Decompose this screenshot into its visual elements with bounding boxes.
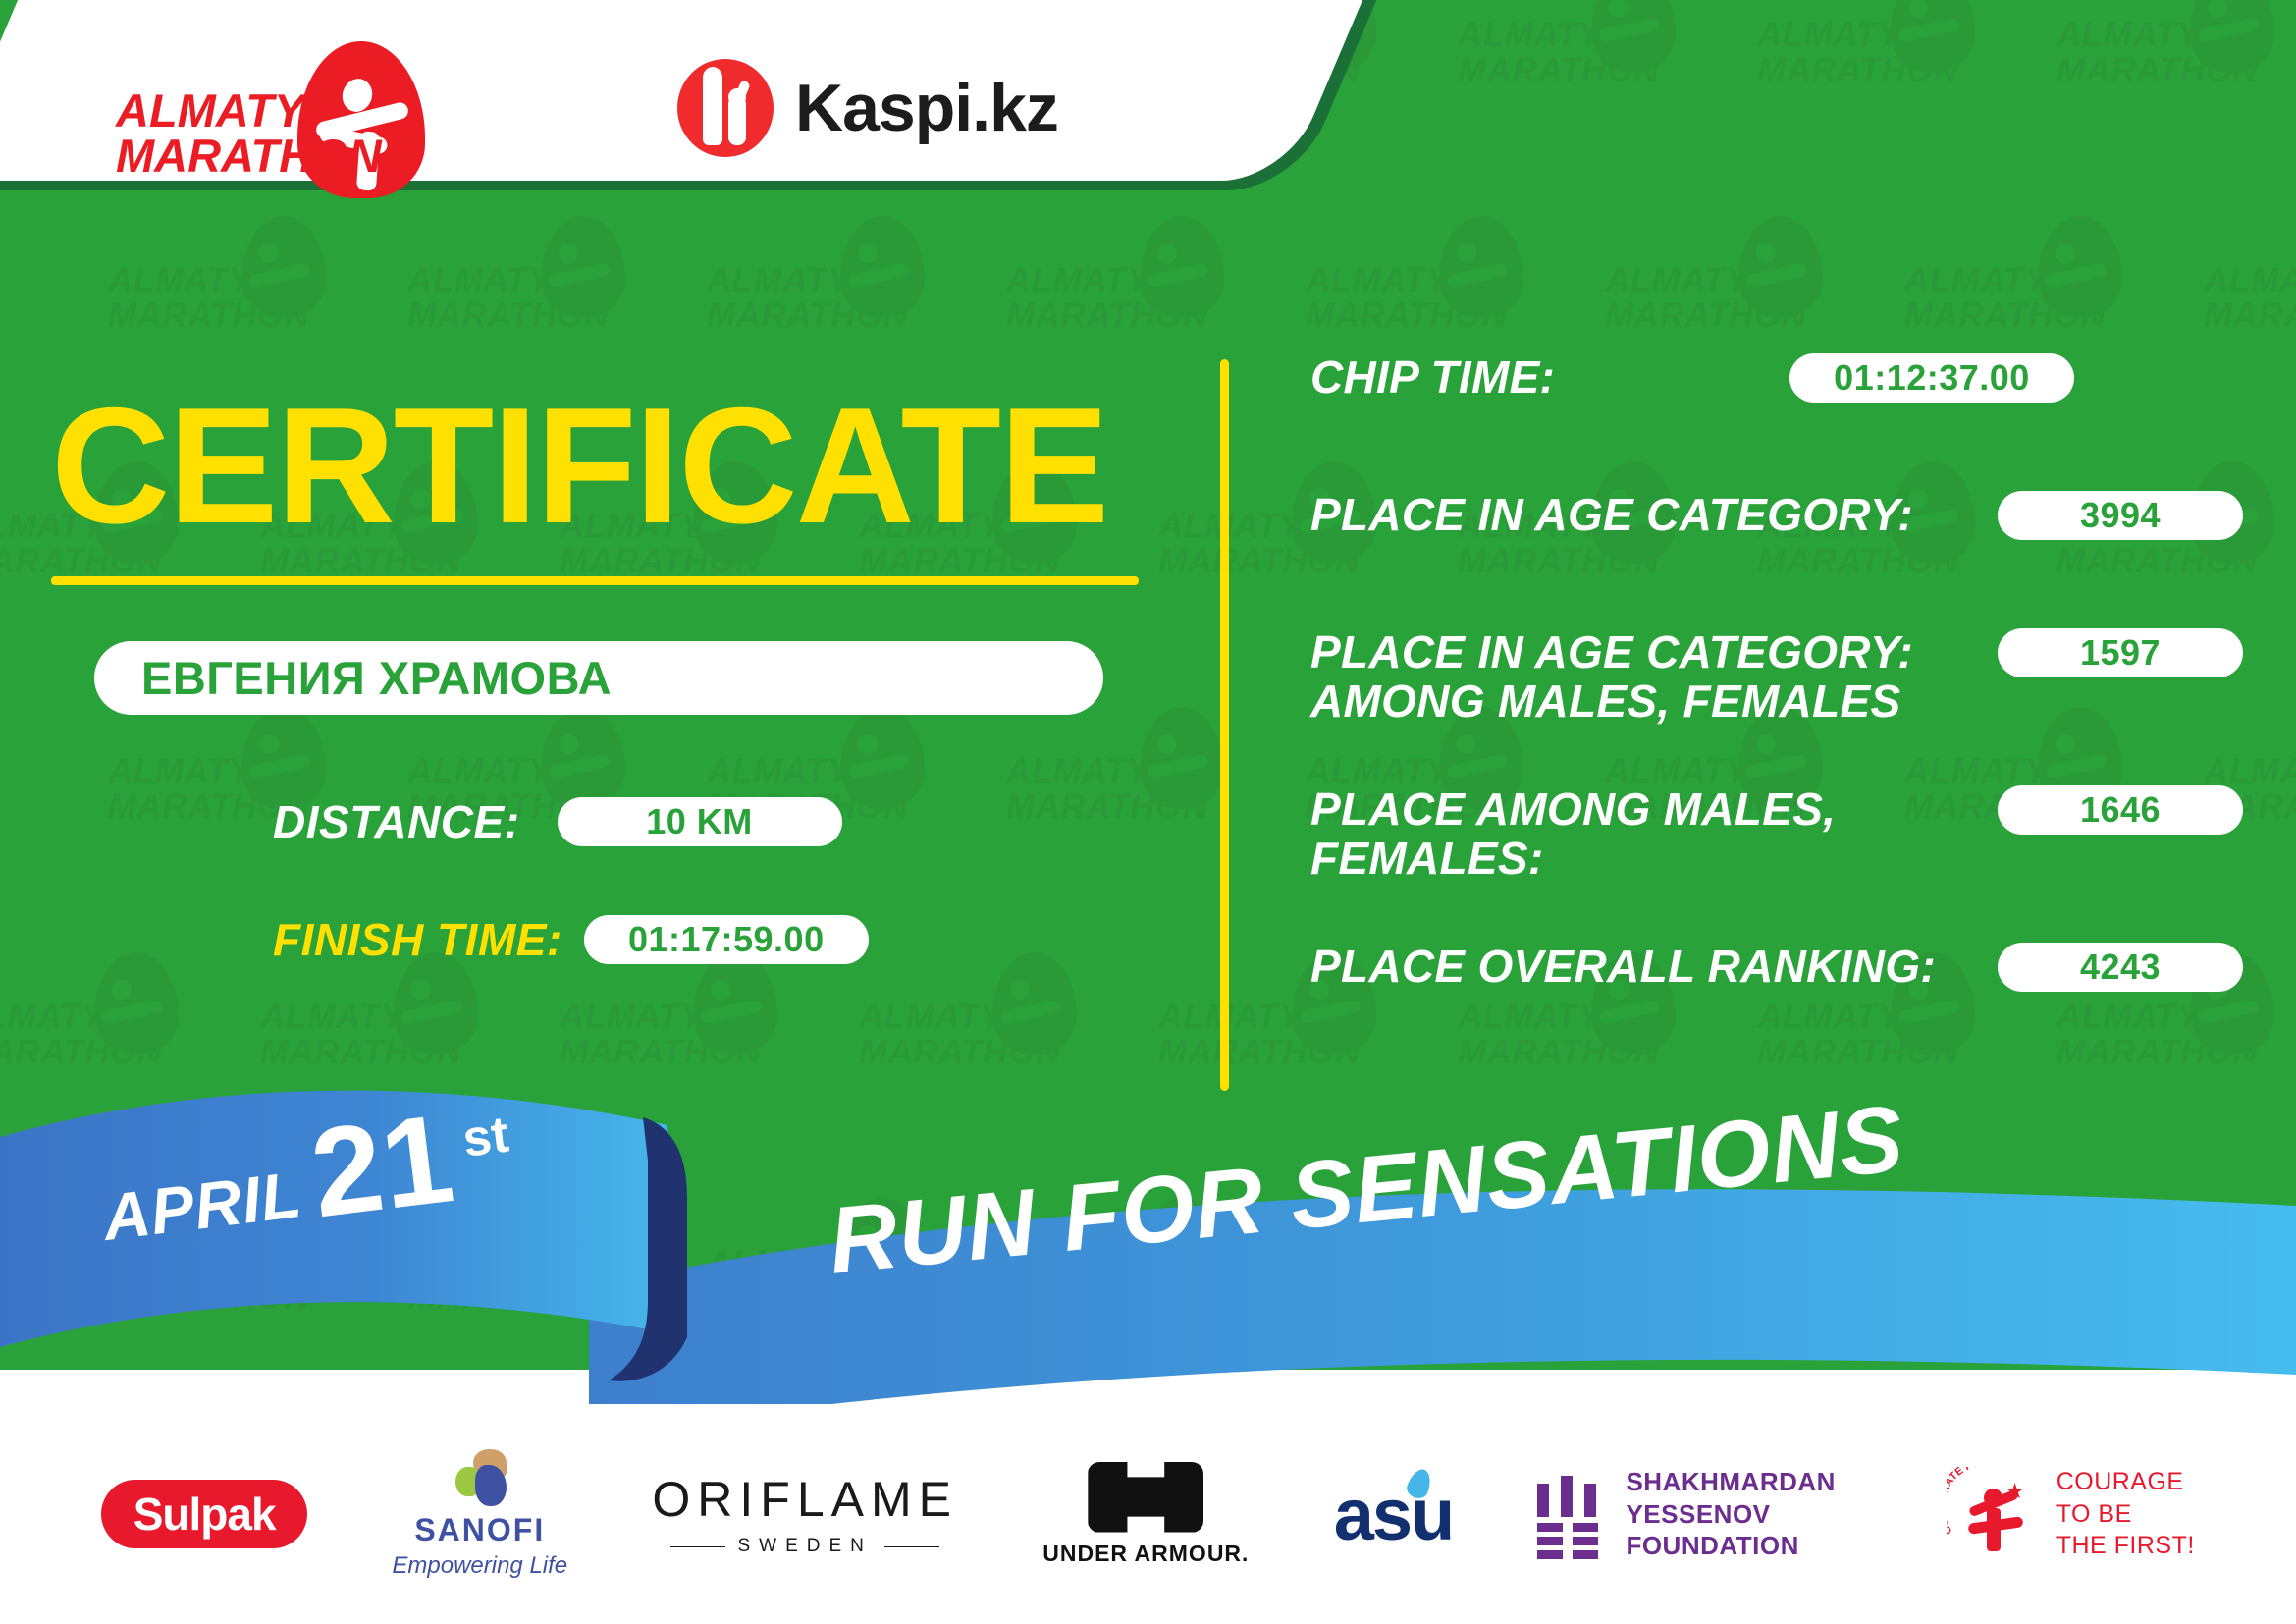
watermark-text: ALMATYMARATHON xyxy=(1904,263,2076,333)
asu-wordmark: asu xyxy=(1334,1473,1454,1556)
sponsor-sanofi: SANOFI Empowering Life xyxy=(392,1449,567,1580)
sanofi-mark-icon xyxy=(450,1449,510,1506)
stat-row-chip-time: CHIP TIME: 01:12:37.00 xyxy=(1310,353,2248,403)
corporate-fund-line2: TO BE xyxy=(2056,1498,2195,1531)
place-among-males-females-value-pill: 1646 xyxy=(1998,785,2243,835)
sponsor-corporate-fund: CORPORATE FUND ★ COURAGE TO BE THE FIRST… xyxy=(1947,1466,2195,1562)
place-overall-ranking-value: 4243 xyxy=(2080,947,2161,988)
finish-time-row: FINISH TIME: 01:17:59.00 xyxy=(273,913,869,966)
watermark-text: ALMATYMARATHON xyxy=(1458,18,1629,87)
sanofi-tagline: Empowering Life xyxy=(392,1552,567,1580)
watermark-text: ALMATYMARATHON xyxy=(1158,1000,1330,1069)
corporate-fund-logo: CORPORATE FUND ★ COURAGE TO BE THE FIRST… xyxy=(1947,1466,2195,1562)
distance-row: DISTANCE: 10 KM xyxy=(273,795,842,848)
corporate-fund-wordmark: COURAGE TO BE THE FIRST! xyxy=(2056,1466,2195,1562)
event-day: 21 xyxy=(306,1105,458,1229)
place-age-category-label: PLACE IN AGE CATEGORY: xyxy=(1310,491,1998,540)
corporate-fund-figure-icon: CORPORATE FUND ★ xyxy=(1947,1467,2041,1561)
place-age-category-value-pill: 3994 xyxy=(1998,491,2243,540)
finish-time-label: FINISH TIME: xyxy=(273,913,562,966)
under-armour-mark-icon xyxy=(1088,1462,1203,1533)
yessenov-line1: SHAKHMARDAN YESSENOV xyxy=(1626,1466,1861,1530)
place-age-category-among-value: 1597 xyxy=(2080,632,2161,674)
sponsor-under-armour: UNDER ARMOUR. xyxy=(1042,1462,1249,1567)
watermark-text: ALMATYMARATHON xyxy=(2056,1000,2228,1069)
place-age-category-among-label: PLACE IN AGE CATEGORY: AMONG MALES, FEMA… xyxy=(1310,628,1998,726)
place-age-category-value: 3994 xyxy=(2080,495,2161,536)
place-age-category-among-label-line1: PLACE IN AGE CATEGORY: xyxy=(1310,628,1998,677)
watermark-text: ALMATYMARATHON xyxy=(1757,18,1929,87)
page-title: CERTIFICATE xyxy=(51,383,1107,548)
watermark-text: ALMATYMARATHON xyxy=(1757,1000,1929,1069)
place-among-males-females-label-line2: FEMALES: xyxy=(1310,835,1998,884)
watermark-text: ALMATYMARATHON xyxy=(1158,509,1330,578)
sulpak-logo: Sulpak xyxy=(101,1480,307,1548)
watermark-text: ALMATYMARATHON xyxy=(2056,18,2228,87)
watermark-tile: ALMATYMARATHON xyxy=(1757,0,1985,163)
distance-label: DISTANCE: xyxy=(273,795,520,848)
chip-time-label: CHIP TIME: xyxy=(1310,353,1772,403)
watermark-tile: ALMATYMARATHON xyxy=(2056,0,2284,163)
yessenov-foundation-logo: SHAKHMARDAN YESSENOV FOUNDATION xyxy=(1537,1466,1861,1562)
title-underline-rule xyxy=(51,576,1139,585)
certificate-page: ALMATYMARATHONALMATYMARATHONALMATYMARATH… xyxy=(0,0,2296,1624)
participant-name-field: ЕВГЕНИЯ ХРАМОВА xyxy=(94,641,1103,715)
vertical-divider xyxy=(1220,359,1229,1091)
corporate-fund-line1: COURAGE xyxy=(2056,1466,2195,1498)
sponsor-asu: asu xyxy=(1334,1473,1454,1556)
watermark-text: ALMATYMARATHON xyxy=(2204,263,2296,333)
watermark-tile: ALMATYMARATHON xyxy=(1458,0,1685,163)
finish-time-value-pill: 01:17:59.00 xyxy=(584,915,869,964)
under-armour-logo: UNDER ARMOUR. xyxy=(1042,1462,1249,1567)
oriflame-tagline: SWEDEN xyxy=(652,1536,958,1557)
stat-row-place-age-category-among: PLACE IN AGE CATEGORY: AMONG MALES, FEMA… xyxy=(1310,628,2248,726)
place-age-category-among-value-pill: 1597 xyxy=(1998,628,2243,677)
place-among-males-females-label-line1: PLACE AMONG MALES, xyxy=(1310,785,1998,835)
sponsor-bar: Sulpak SANOFI Empowering Life ORIFLAME S… xyxy=(0,1404,2296,1624)
distance-value: 10 KM xyxy=(646,801,753,842)
finish-time-value: 01:17:59.00 xyxy=(628,919,825,960)
sanofi-logo: SANOFI Empowering Life xyxy=(392,1449,567,1580)
watermark-text: ALMATYMARATHON xyxy=(1605,263,1777,333)
stat-row-place-among-males-females: PLACE AMONG MALES, FEMALES: 1646 xyxy=(1310,785,2248,883)
yessenov-line2: FOUNDATION xyxy=(1626,1530,1861,1562)
corporate-fund-line3: THE FIRST! xyxy=(2056,1530,2195,1562)
place-among-males-females-label: PLACE AMONG MALES, FEMALES: xyxy=(1310,785,1998,883)
sanofi-wordmark: SANOFI xyxy=(392,1512,567,1548)
chip-time-value: 01:12:37.00 xyxy=(1834,357,2030,399)
asu-logo: asu xyxy=(1334,1473,1454,1556)
sponsor-oriflame: ORIFLAME SWEDEN xyxy=(652,1471,958,1557)
under-armour-wordmark: UNDER ARMOUR. xyxy=(1042,1541,1249,1567)
oriflame-wordmark: ORIFLAME xyxy=(652,1471,958,1528)
yessenov-foundation-wordmark: SHAKHMARDAN YESSENOV FOUNDATION xyxy=(1626,1466,1861,1562)
place-age-category-among-label-line2: AMONG MALES, FEMALES xyxy=(1310,677,1998,727)
participant-name-value: ЕВГЕНИЯ ХРАМОВА xyxy=(141,651,612,705)
stat-row-place-overall-ranking: PLACE OVERALL RANKING: 4243 xyxy=(1310,943,2248,992)
oriflame-logo: ORIFLAME SWEDEN xyxy=(652,1471,958,1557)
place-among-males-females-value: 1646 xyxy=(2080,789,2161,831)
chip-time-value-pill: 01:12:37.00 xyxy=(1789,353,2074,403)
place-overall-ranking-value-pill: 4243 xyxy=(1998,943,2243,992)
event-day-ordinal: st xyxy=(459,1106,511,1169)
distance-value-pill: 10 KM xyxy=(558,797,842,846)
yessenov-bars-icon xyxy=(1537,1476,1600,1552)
sponsor-sulpak: Sulpak xyxy=(101,1480,307,1548)
watermark-text: ALMATYMARATHON xyxy=(1458,1000,1629,1069)
stat-row-place-age-category: PLACE IN AGE CATEGORY: 3994 xyxy=(1310,491,2248,540)
place-overall-ranking-label: PLACE OVERALL RANKING: xyxy=(1310,943,1998,992)
sponsor-yessenov-foundation: SHAKHMARDAN YESSENOV FOUNDATION xyxy=(1537,1466,1861,1562)
watermark-text: ALMATYMARATHON xyxy=(1306,263,1477,333)
